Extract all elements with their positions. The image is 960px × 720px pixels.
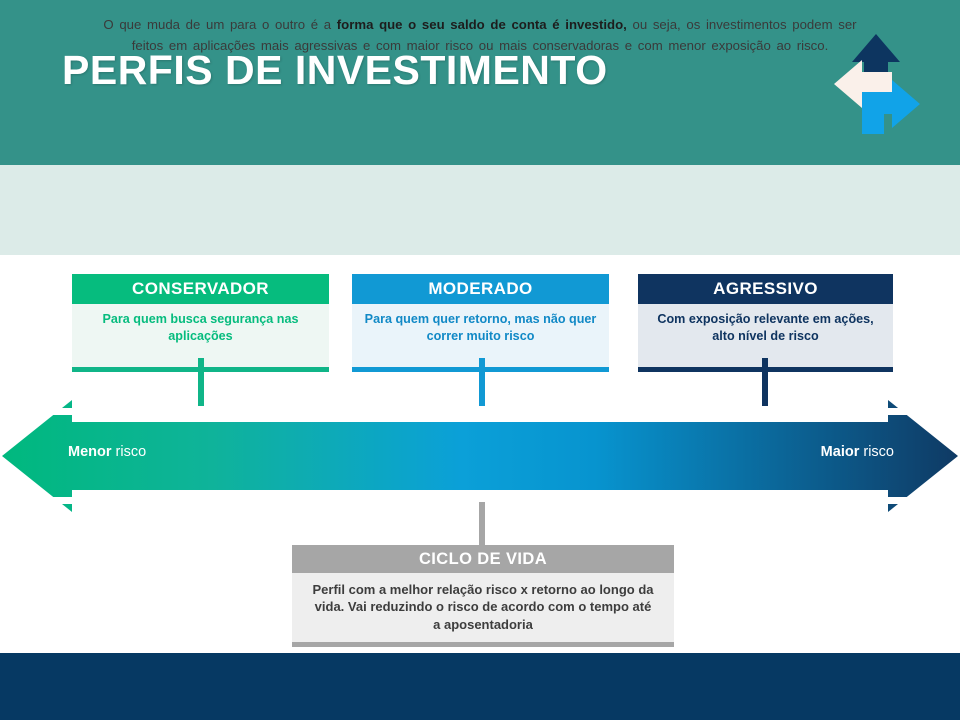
menor-rest: risco [112, 444, 147, 460]
connector-stem-ciclo-de-vida [479, 502, 485, 546]
profile-title: MODERADO [352, 274, 609, 304]
slide: PERFIS DE INVESTIMENTO O que muda de um … [0, 0, 960, 720]
intro-band [0, 165, 960, 255]
profile-title: CONSERVADOR [72, 274, 329, 304]
maior-rest: risco [859, 444, 894, 460]
label-maior-risco: Maior risco [821, 444, 894, 460]
lifecycle-description: Perfil com a melhor relação risco x reto… [292, 573, 674, 642]
lifecycle-underline [292, 642, 674, 647]
intro-paragraph: O que muda de um para o outro é a forma … [100, 14, 860, 57]
intro-emphasis: forma que o seu saldo de conta é investi… [337, 17, 627, 32]
menor-bold: Menor [68, 444, 112, 460]
lifecycle-title: CICLO DE VIDA [292, 545, 674, 573]
intro-lead: O que muda de um para o outro é a [103, 17, 336, 32]
profile-title: AGRESSIVO [638, 274, 893, 304]
footer-band [0, 653, 960, 720]
label-menor-risco: Menor risco [68, 444, 146, 460]
maior-bold: Maior [821, 444, 860, 460]
lifecycle-card[interactable]: CICLO DE VIDA Perfil com a melhor relaçã… [292, 545, 674, 647]
